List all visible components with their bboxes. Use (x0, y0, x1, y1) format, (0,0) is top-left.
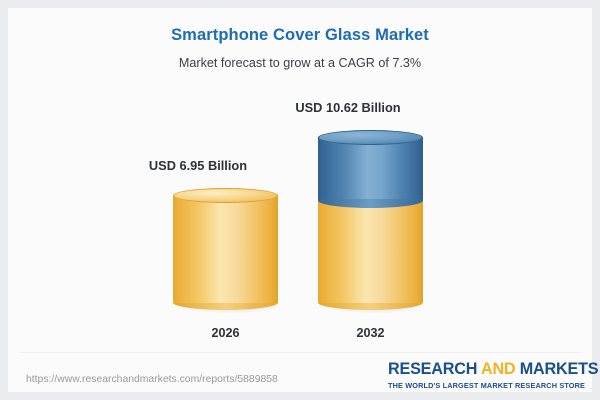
chart-canvas: Smartphone Cover Glass Market Market for… (0, 0, 600, 400)
bar-segment-growth-body-upper (318, 137, 423, 199)
research-and-markets-logo[interactable]: RESEARCH AND MARKETS THE WORLD'S LARGEST… (388, 360, 580, 390)
logo-word-research: RESEARCH (388, 360, 481, 378)
bar-2032 (318, 122, 423, 312)
logo-tagline: THE WORLD'S LARGEST MARKET RESEARCH STOR… (388, 381, 580, 390)
logo-wordmark: RESEARCH AND MARKETS (388, 360, 580, 379)
bar-value-label-2032: USD 10.62 Billion (263, 100, 433, 115)
logo-word-and: AND (481, 360, 515, 378)
bar-value-label-2026: USD 6.95 Billion (113, 158, 283, 173)
logo-word-markets: MARKETS (515, 360, 598, 378)
footer-divider (20, 352, 580, 353)
report-url[interactable]: https://www.researchandmarkets.com/repor… (26, 374, 278, 385)
category-label-2026: 2026 (173, 326, 278, 340)
bar-segment-growth-top (318, 130, 423, 145)
plot-area: USD 6.95 Billion 2026 USD 10.62 Billion (8, 8, 592, 392)
bar-segment-base-body (173, 195, 278, 303)
chart-panel: Smartphone Cover Glass Market Market for… (8, 8, 592, 392)
bar-2026 (173, 180, 278, 312)
category-label-2032: 2032 (318, 326, 423, 340)
bar-segment-base-top (173, 188, 278, 203)
bar-segment-base-body (318, 201, 423, 303)
